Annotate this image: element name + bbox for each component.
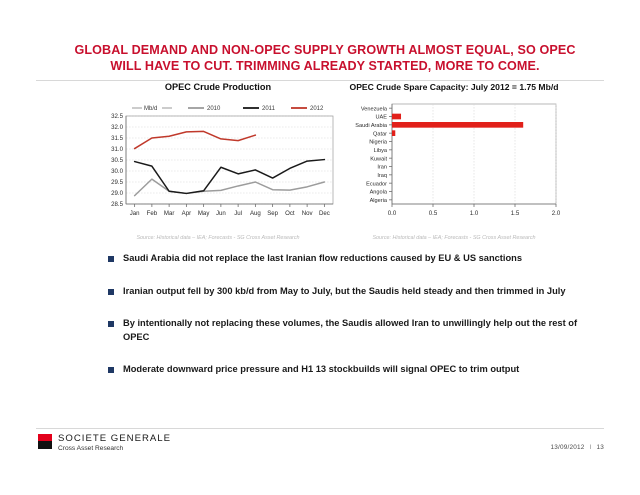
- x-axis-tick-label: 0.0: [388, 210, 397, 217]
- x-axis-tick-label: Apr: [182, 210, 191, 217]
- right-chart-plot: 0.00.51.01.52.0VenezuelaUAESaudi ArabiaQ…: [334, 96, 574, 231]
- y-axis-tick-label: 32.5: [111, 113, 123, 120]
- square-bullet-icon: [108, 321, 114, 327]
- y-axis-tick-label: 28.5: [111, 201, 123, 208]
- page-number: 13: [596, 444, 604, 451]
- legend-label-2012: 2012: [310, 106, 324, 112]
- x-axis-tick-label: Dec: [319, 210, 330, 217]
- x-axis-tick-label: Feb: [147, 210, 158, 217]
- category-label: Iraq: [377, 173, 387, 179]
- brand-name: SOCIETE GENERALE: [58, 433, 171, 444]
- opec-spare-capacity-chart: OPEC Crude Spare Capacity: July 2012 = 1…: [334, 82, 574, 241]
- bullet-text: Iranian output fell by 300 kb/d from May…: [123, 285, 566, 299]
- bullet-text: Saudi Arabia did not replace the last Ir…: [123, 252, 522, 266]
- category-label: Iran: [377, 165, 387, 171]
- charts-region: OPEC Crude Production 28.529.029.530.030…: [0, 82, 640, 242]
- x-axis-tick-label: Nov: [302, 210, 314, 217]
- left-chart-plot: 28.529.029.530.030.531.031.532.032.5JanF…: [100, 96, 336, 231]
- x-axis-tick-label: 2.0: [552, 210, 561, 217]
- y-axis-tick-label: 31.5: [111, 135, 123, 142]
- list-item: By intentionally not replacing these vol…: [108, 317, 608, 344]
- footer-meta: 13/09/2012I13: [551, 444, 604, 451]
- x-axis-tick-label: Jun: [216, 210, 226, 217]
- y-axis-tick-label: 29.5: [111, 179, 123, 186]
- list-item: Moderate downward price pressure and H1 …: [108, 363, 608, 377]
- x-axis-tick-label: Mar: [164, 210, 175, 217]
- y-axis-tick-label: 29.0: [111, 190, 123, 197]
- category-label: Venezuela: [361, 106, 388, 112]
- x-axis-tick-label: May: [198, 210, 210, 217]
- x-axis-tick-label: 1.5: [511, 210, 520, 217]
- bar-saudi-arabia: [392, 122, 523, 128]
- category-label: Kuwait: [370, 156, 387, 162]
- legend-unit-label: Mb/d: [144, 106, 157, 112]
- category-label: Libya: [374, 148, 388, 154]
- logo-red-half: [38, 434, 52, 441]
- y-axis-tick-label: 31.0: [111, 146, 123, 153]
- opec-crude-production-chart: OPEC Crude Production 28.529.029.530.030…: [100, 82, 336, 241]
- x-axis-tick-label: Jul: [234, 210, 242, 217]
- category-label: Angola: [370, 190, 388, 196]
- square-bullet-icon: [108, 289, 114, 295]
- title-divider: [36, 80, 604, 81]
- left-chart-title: OPEC Crude Production: [100, 82, 336, 92]
- category-label: Saudi Arabia: [355, 123, 388, 129]
- brand-division: Cross Asset Research: [58, 445, 171, 452]
- right-chart-title: OPEC Crude Spare Capacity: July 2012 = 1…: [334, 82, 574, 92]
- y-axis-tick-label: 30.5: [111, 157, 123, 164]
- right-chart-source: Source: Historical data – IEA; Forecasts…: [334, 235, 574, 241]
- x-axis-tick-label: 0.5: [429, 210, 438, 217]
- bullet-text: Moderate downward price pressure and H1 …: [123, 363, 519, 377]
- x-axis-tick-label: Jan: [130, 210, 140, 217]
- footer-brand-block: SOCIETE GENERALE Cross Asset Research: [58, 433, 171, 452]
- category-label: Ecuador: [366, 181, 387, 187]
- x-axis-tick-label: Aug: [250, 210, 261, 217]
- legend-label-2011: 2011: [262, 106, 276, 112]
- line-chart-svg: 28.529.029.530.030.531.031.532.032.5JanF…: [100, 96, 336, 231]
- series-line-2012: [135, 131, 256, 148]
- footer-date: 13/09/2012: [551, 444, 585, 451]
- left-chart-source: Source: Historical data – IEA; Forecasts…: [100, 235, 336, 241]
- y-axis-tick-label: 32.0: [111, 124, 123, 131]
- logo-black-half: [38, 441, 52, 449]
- bullet-list: Saudi Arabia did not replace the last Ir…: [108, 252, 608, 396]
- footer-separator: I: [590, 444, 592, 451]
- category-label: Qatar: [373, 131, 387, 137]
- list-item: Iranian output fell by 300 kb/d from May…: [108, 285, 608, 299]
- footer-divider: [36, 428, 604, 429]
- y-axis-tick-label: 30.0: [111, 168, 123, 175]
- square-bullet-icon: [108, 256, 114, 262]
- category-label: UAE: [375, 115, 387, 121]
- slide-title: GLOBAL DEMAND AND NON-OPEC SUPPLY GROWTH…: [60, 42, 590, 74]
- societe-generale-logo-icon: [38, 434, 52, 449]
- bar-uae: [392, 114, 401, 120]
- legend-label-2010: 2010: [207, 106, 221, 112]
- x-axis-tick-label: 1.0: [470, 210, 479, 217]
- x-axis-tick-label: Sep: [267, 210, 278, 217]
- x-axis-tick-label: Oct: [285, 210, 295, 217]
- bar-qatar: [392, 130, 395, 136]
- list-item: Saudi Arabia did not replace the last Ir…: [108, 252, 608, 266]
- bar-chart-svg: 0.00.51.01.52.0VenezuelaUAESaudi ArabiaQ…: [334, 96, 574, 231]
- square-bullet-icon: [108, 367, 114, 373]
- bullet-text: By intentionally not replacing these vol…: [123, 317, 593, 344]
- category-label: Nigeria: [369, 140, 388, 146]
- category-label: Algeria: [370, 198, 388, 204]
